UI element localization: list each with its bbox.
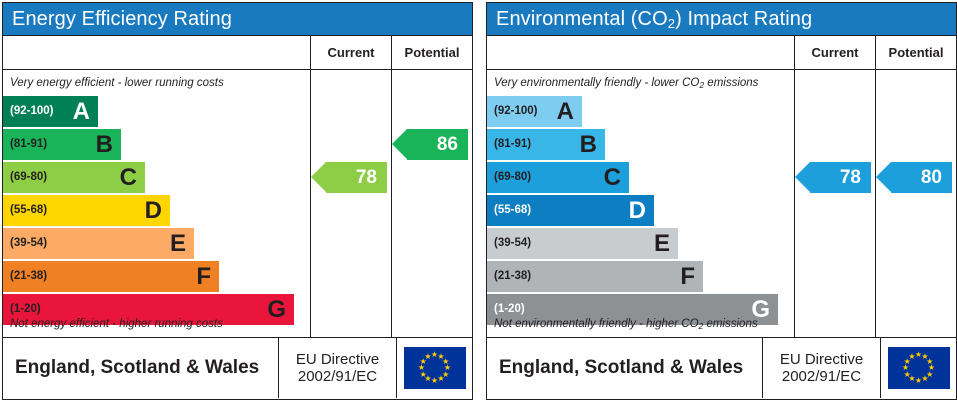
- current-rating-arrow-tip-co2: [795, 162, 810, 192]
- band-a-co2: (92-100) A: [487, 96, 582, 127]
- eu-flag-cell-energy: ★★★★★★★★★★★★: [396, 338, 472, 398]
- potential-column-co2: 80: [875, 70, 956, 337]
- region-label-co2: England, Scotland & Wales: [487, 338, 762, 398]
- chart-footer-energy: England, Scotland & Wales EU Directive 2…: [3, 337, 472, 398]
- band-b-letter-energy: B: [96, 133, 113, 157]
- page-title-co2: Environmental (CO2) Impact Rating: [496, 9, 812, 29]
- potential-rating-value-co2: 80: [921, 167, 942, 189]
- eu-directive-line2-co2: 2002/91/EC: [782, 368, 861, 385]
- note-bottom-energy: Not energy efficient - higher running co…: [3, 319, 223, 331]
- band-d-range-energy: (55-68): [3, 205, 47, 217]
- eu-directive-line2-energy: 2002/91/EC: [298, 368, 377, 385]
- band-a-range-energy: (92-100): [3, 106, 53, 118]
- band-e-letter-energy: E: [170, 232, 186, 256]
- note-top-co2-tail: emissions: [704, 77, 758, 89]
- potential-column-energy: 86: [391, 70, 472, 337]
- band-b-range-co2: (81-91): [487, 139, 531, 151]
- band-list-co2: (92-100) A (81-91) B (69-80) C (55-68) D: [487, 96, 794, 327]
- band-a-letter-co2: A: [557, 100, 574, 124]
- current-column-energy: 78: [310, 70, 391, 337]
- region-label-energy: England, Scotland & Wales: [3, 338, 278, 398]
- chart-title-bar-co2: Environmental (CO2) Impact Rating: [487, 3, 956, 36]
- band-e-letter-co2: E: [654, 232, 670, 256]
- eu-flag-icon-co2: ★★★★★★★★★★★★: [888, 347, 950, 389]
- note-bottom-co2: Not environmentally friendly - higher CO…: [487, 319, 758, 331]
- potential-rating-value-energy: 86: [437, 134, 458, 156]
- page-title-co2-tail: ) Impact Rating: [675, 8, 812, 30]
- page-title-energy: Energy Efficiency Rating: [12, 9, 232, 29]
- column-header-potential-co2: Potential: [875, 36, 956, 69]
- band-f-co2: (21-38) F: [487, 261, 703, 292]
- potential-rating-co2: 80: [891, 162, 952, 193]
- band-b-range-energy: (81-91): [3, 139, 47, 151]
- chart-body-co2: Very environmentally friendly - lower CO…: [487, 70, 956, 337]
- eu-star-icon: ★: [908, 353, 916, 361]
- band-e-co2: (39-54) E: [487, 228, 678, 259]
- band-f-letter-energy: F: [196, 265, 211, 289]
- band-c-letter-co2: C: [604, 166, 621, 190]
- note-top-energy: Very energy efficient - lower running co…: [3, 70, 310, 90]
- chart-body-energy: Very energy efficient - lower running co…: [3, 70, 472, 337]
- band-b-co2: (81-91) B: [487, 129, 605, 160]
- column-header-row-energy: Current Potential: [3, 36, 472, 70]
- current-rating-co2: 78: [810, 162, 871, 193]
- column-header-potential-energy: Potential: [391, 36, 472, 69]
- band-g-letter-co2: G: [751, 298, 770, 322]
- band-b-energy: (81-91) B: [3, 129, 121, 160]
- chart-title-bar-energy: Energy Efficiency Rating: [3, 3, 472, 36]
- header-spacer-energy: [3, 36, 310, 69]
- band-c-range-energy: (69-80): [3, 172, 47, 184]
- band-b-letter-co2: B: [580, 133, 597, 157]
- potential-rating-energy: 86: [407, 129, 468, 160]
- page-title-co2-sub: 2: [668, 16, 675, 31]
- eu-directive-line1-co2: EU Directive: [780, 351, 863, 368]
- epc-charts-page: Energy Efficiency Rating Current Potenti…: [0, 0, 957, 404]
- band-e-range-co2: (39-54): [487, 238, 531, 250]
- eu-directive-line1-energy: EU Directive: [296, 351, 379, 368]
- band-c-co2: (69-80) C: [487, 162, 629, 193]
- band-d-letter-energy: D: [145, 199, 162, 223]
- eu-flag-icon-energy: ★★★★★★★★★★★★: [404, 347, 466, 389]
- potential-rating-arrow-tip-energy: [392, 129, 407, 159]
- band-f-range-co2: (21-38): [487, 271, 531, 283]
- page-title-co2-main: Environmental (CO: [496, 8, 668, 30]
- band-f-range-energy: (21-38): [3, 271, 47, 283]
- band-d-range-co2: (55-68): [487, 205, 531, 217]
- band-g-range-energy: (1-20): [3, 304, 41, 316]
- current-rating-value-co2: 78: [840, 167, 861, 189]
- bands-column-energy: Very energy efficient - lower running co…: [3, 70, 310, 337]
- page-title-energy-text: Energy Efficiency Rating: [12, 8, 232, 30]
- eu-directive-co2: EU Directive 2002/91/EC: [762, 338, 880, 398]
- band-e-energy: (39-54) E: [3, 228, 194, 259]
- current-rating-value-energy: 78: [356, 167, 377, 189]
- current-column-co2: 78: [794, 70, 875, 337]
- band-c-energy: (69-80) C: [3, 162, 145, 193]
- note-top-co2-main: Very environmentally friendly - lower CO: [494, 77, 699, 89]
- potential-rating-arrow-tip-co2: [876, 162, 891, 192]
- column-header-current-energy: Current: [310, 36, 391, 69]
- note-bottom-co2-tail: emissions: [703, 318, 757, 330]
- band-a-energy: (92-100) A: [3, 96, 98, 127]
- band-d-co2: (55-68) D: [487, 195, 654, 226]
- eu-star-icon: ★: [424, 353, 432, 361]
- band-c-range-co2: (69-80): [487, 172, 531, 184]
- note-bottom-co2-main: Not environmentally friendly - higher CO: [494, 318, 699, 330]
- current-rating-energy: 78: [326, 162, 387, 193]
- band-f-letter-co2: F: [680, 265, 695, 289]
- band-a-letter-energy: A: [73, 100, 90, 124]
- band-c-letter-energy: C: [120, 166, 137, 190]
- band-f-energy: (21-38) F: [3, 261, 219, 292]
- column-header-row-co2: Current Potential: [487, 36, 956, 70]
- band-list-energy: (92-100) A (81-91) B (69-80) C (55-68) D: [3, 96, 310, 327]
- band-g-range-co2: (1-20): [487, 304, 525, 316]
- note-bottom-co2-sub: 2: [699, 321, 704, 331]
- band-e-range-energy: (39-54): [3, 238, 47, 250]
- band-d-energy: (55-68) D: [3, 195, 170, 226]
- note-top-co2: Very environmentally friendly - lower CO…: [487, 70, 794, 90]
- environmental-co2-impact-rating-chart: Environmental (CO2) Impact Rating Curren…: [486, 2, 957, 400]
- eu-flag-cell-co2: ★★★★★★★★★★★★: [880, 338, 956, 398]
- current-rating-arrow-tip-energy: [311, 162, 326, 192]
- header-spacer-co2: [487, 36, 794, 69]
- column-header-current-co2: Current: [794, 36, 875, 69]
- band-d-letter-co2: D: [629, 199, 646, 223]
- note-top-co2-sub: 2: [699, 80, 704, 90]
- energy-efficiency-rating-chart: Energy Efficiency Rating Current Potenti…: [2, 2, 473, 400]
- chart-footer-co2: England, Scotland & Wales EU Directive 2…: [487, 337, 956, 398]
- band-g-letter-energy: G: [267, 298, 286, 322]
- eu-directive-energy: EU Directive 2002/91/EC: [278, 338, 396, 398]
- band-a-range-co2: (92-100): [487, 106, 537, 118]
- bands-column-co2: Very environmentally friendly - lower CO…: [487, 70, 794, 337]
